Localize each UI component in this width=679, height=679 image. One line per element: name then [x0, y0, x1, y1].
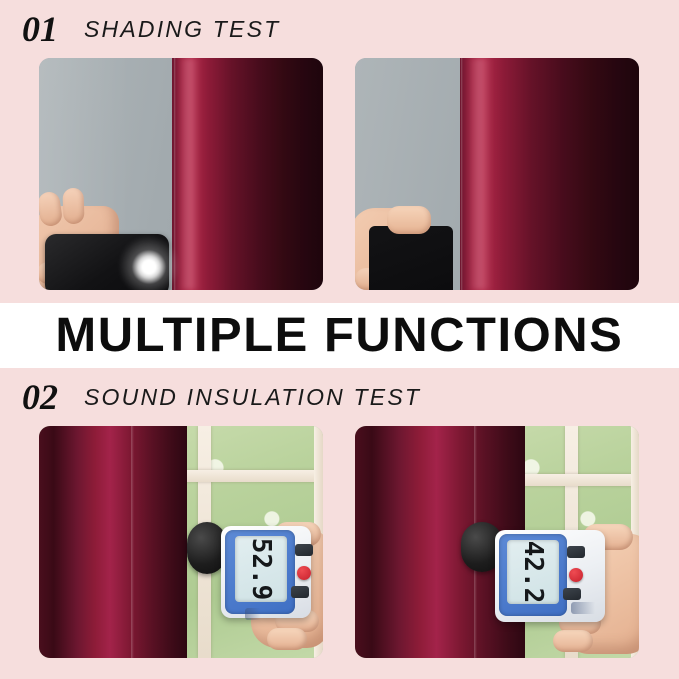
sound-level-meter-display: 42.2: [507, 540, 559, 604]
curtain-panel: [39, 426, 187, 658]
photo-card-flashlight-on: [39, 58, 323, 290]
function-button[interactable]: [567, 546, 585, 558]
photo-card-flashlight-blocked: [355, 58, 639, 290]
section-label-02: SOUND INSULATION TEST: [84, 384, 421, 411]
photo-grid-sound: 52.9 42.2: [0, 426, 679, 658]
sound-level-meter-display: 52.9: [235, 536, 287, 602]
brand-logo-icon: [245, 608, 271, 620]
finger: [62, 188, 84, 225]
banner-title: MULTIPLE FUNCTIONS: [56, 308, 624, 363]
brand-logo-icon: [571, 602, 611, 614]
section-heading-02: 02 SOUND INSULATION TEST: [0, 368, 679, 426]
infographic-page: 01 SHADING TEST: [0, 0, 679, 679]
section-number-01: 01: [22, 11, 58, 47]
curtain-sheen: [467, 58, 492, 290]
knuckle: [553, 630, 593, 652]
power-button[interactable]: [569, 568, 583, 582]
curtain-fold: [131, 426, 134, 658]
curtain-panel: [172, 58, 323, 290]
function-button[interactable]: [295, 544, 313, 556]
section-label-01: SHADING TEST: [84, 16, 280, 43]
photo-card-sound-curtained: 42.2: [355, 426, 639, 658]
photo-card-sound-open: 52.9: [39, 426, 323, 658]
banner: MULTIPLE FUNCTIONS: [0, 303, 679, 368]
curtain-panel: [460, 58, 639, 290]
section-heading-01: 01 SHADING TEST: [0, 0, 679, 58]
smartphone: [369, 226, 453, 290]
thumb: [387, 206, 431, 234]
curtain-fold: [461, 58, 463, 290]
section-number-02: 02: [22, 379, 58, 415]
sound-level-value: 42.2: [518, 541, 548, 604]
knuckle: [267, 628, 307, 650]
sound-level-value: 52.9: [246, 538, 276, 601]
power-button[interactable]: [297, 566, 311, 580]
hold-button[interactable]: [291, 586, 309, 598]
hold-button[interactable]: [563, 588, 581, 600]
flashlight-icon: [132, 250, 166, 284]
photo-grid-shading: [0, 58, 679, 290]
